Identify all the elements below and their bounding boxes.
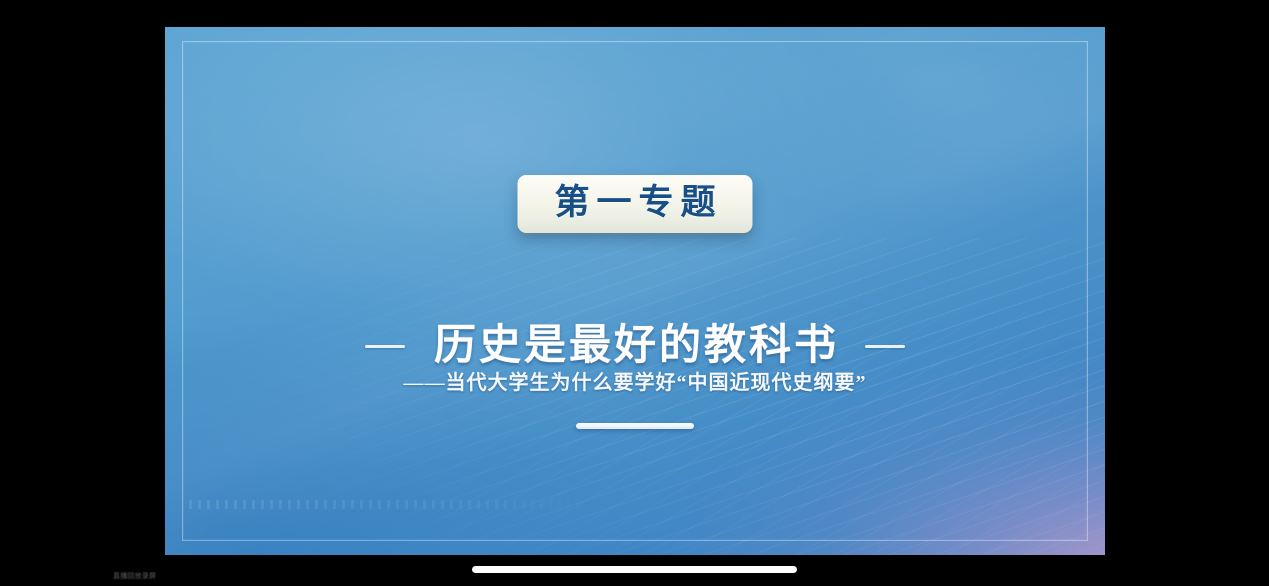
presentation-slide[interactable]: 第一专题 历史是最好的教科书 ——当代大学生为什么要学好“中国近现代史纲要” xyxy=(165,27,1105,555)
slide-subtitle: ——当代大学生为什么要学好“中国近现代史纲要” xyxy=(404,371,867,396)
topic-badge-label: 第一专题 xyxy=(547,184,722,222)
title-underline-rule xyxy=(576,423,694,429)
home-indicator-bar[interactable] xyxy=(472,566,797,573)
title-dash-left xyxy=(365,345,405,348)
player-watermark: 直播回放录屏 xyxy=(113,572,165,581)
topic-badge: 第一专题 xyxy=(517,175,752,233)
page-title: 历史是最好的教科书 xyxy=(431,323,839,370)
slide-content: 第一专题 历史是最好的教科书 ——当代大学生为什么要学好“中国近现代史纲要” xyxy=(165,27,1105,555)
video-player-stage: 第一专题 历史是最好的教科书 ——当代大学生为什么要学好“中国近现代史纲要” 直… xyxy=(0,0,1269,586)
title-dash-right xyxy=(865,345,905,348)
